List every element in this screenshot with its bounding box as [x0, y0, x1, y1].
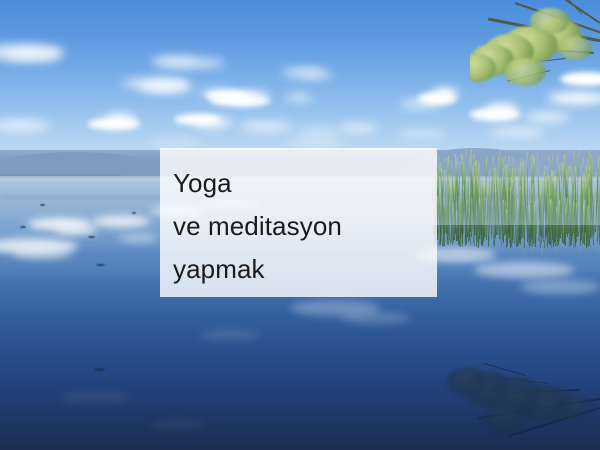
cloud [286, 94, 312, 101]
cloud [192, 118, 232, 127]
cloud [524, 112, 570, 122]
cloud-reflection [60, 392, 130, 403]
cloud-reflection [92, 216, 150, 227]
cloud [300, 72, 334, 79]
cloud [486, 104, 518, 115]
cloud [104, 114, 136, 124]
cloud [338, 124, 378, 132]
cloud [240, 122, 292, 131]
foliage-clump [558, 36, 592, 60]
cloud [296, 128, 340, 136]
text-overlay-box: Yoga ve meditasyon yapmak [160, 148, 437, 297]
cloud-reflection [340, 312, 410, 324]
cloud-reflection [200, 330, 260, 340]
water-speck [94, 368, 105, 371]
cloud-reflection [54, 226, 98, 235]
reflected-foliage [556, 395, 596, 421]
foliage-clump [530, 8, 570, 34]
reflected-foliage [480, 403, 530, 433]
cloud [150, 140, 200, 146]
cloud-reflection [150, 420, 206, 429]
reeds [432, 146, 600, 266]
cloud-reflection [118, 234, 158, 242]
cloud [140, 82, 192, 92]
water-speck [88, 236, 95, 238]
branch-reflection [440, 345, 600, 445]
photo-scene: Yoga ve meditasyon yapmak [0, 0, 600, 450]
water-speck [20, 226, 26, 228]
reed-stalk [481, 181, 483, 235]
water-speck [96, 264, 105, 266]
cloud-reflection [520, 280, 600, 294]
overlay-caption: Yoga ve meditasyon yapmak [173, 162, 437, 291]
water-speck [132, 212, 136, 214]
reflected-foliage [446, 367, 490, 397]
cloud [432, 88, 458, 99]
foliage-clump [504, 58, 546, 86]
water-speck [40, 204, 45, 206]
cloud [286, 140, 346, 147]
cloud [400, 100, 440, 108]
tree-branch [470, 0, 600, 105]
cloud [236, 92, 270, 101]
cloud [155, 58, 225, 68]
cloud [4, 49, 62, 61]
cloud [490, 128, 544, 136]
cloud [398, 130, 446, 137]
